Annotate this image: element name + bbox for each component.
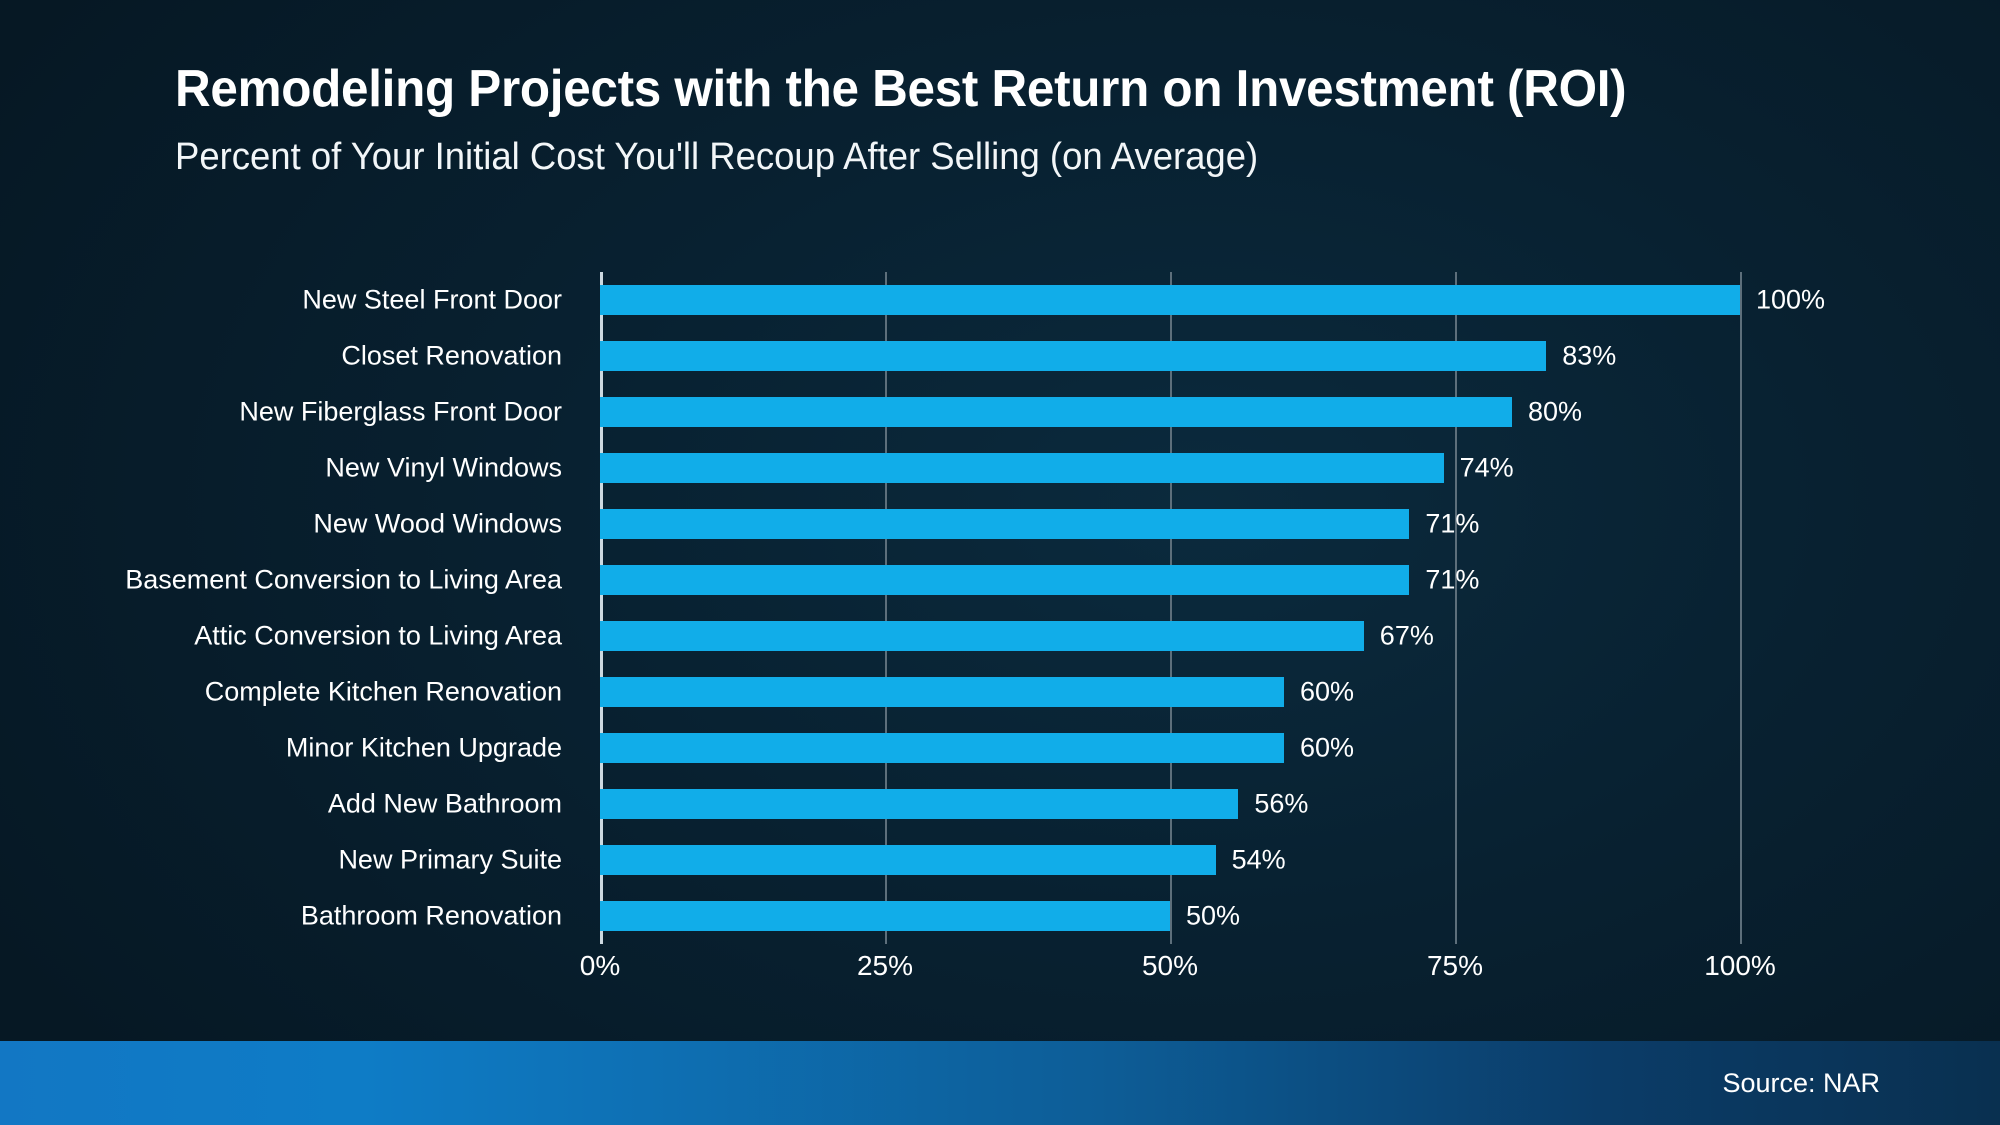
page-title: Remodeling Projects with the Best Return…	[175, 60, 1847, 118]
bar-value-label: 67%	[1380, 621, 1434, 652]
bar-value-label: 60%	[1300, 677, 1354, 708]
category-label: Complete Kitchen Renovation	[205, 677, 562, 708]
gridline	[1170, 272, 1172, 944]
page-subtitle: Percent of Your Initial Cost You'll Reco…	[175, 136, 1865, 180]
category-label: Minor Kitchen Upgrade	[286, 733, 562, 764]
value-axis-tick: 100%	[1704, 950, 1776, 982]
bar[interactable]	[600, 845, 1216, 875]
value-axis-line	[600, 272, 603, 944]
bar[interactable]	[600, 509, 1409, 539]
bar[interactable]	[600, 341, 1546, 371]
bar[interactable]	[600, 565, 1409, 595]
bar-value-label: 71%	[1425, 565, 1479, 596]
bar-value-label: 83%	[1562, 341, 1616, 372]
category-label: Add New Bathroom	[328, 789, 562, 820]
gridline	[885, 272, 887, 944]
category-label: New Vinyl Windows	[325, 453, 562, 484]
bar[interactable]	[600, 397, 1512, 427]
bar-value-label: 100%	[1756, 285, 1825, 316]
gridline	[1455, 272, 1457, 944]
category-label: Closet Renovation	[341, 341, 562, 372]
chart-header: Remodeling Projects with the Best Return…	[175, 60, 1935, 180]
category-axis-labels: New Steel Front DoorCloset RenovationNew…	[120, 272, 580, 944]
bar-value-label: 50%	[1186, 901, 1240, 932]
category-label: Basement Conversion to Living Area	[125, 565, 562, 596]
bar[interactable]	[600, 453, 1444, 483]
value-axis-tick: 75%	[1427, 950, 1483, 982]
bar[interactable]	[600, 733, 1284, 763]
bar[interactable]	[600, 789, 1238, 819]
gridline	[1740, 272, 1742, 944]
category-label: New Primary Suite	[338, 845, 562, 876]
bar-value-label: 56%	[1254, 789, 1308, 820]
category-label: New Steel Front Door	[302, 285, 562, 316]
bar[interactable]	[600, 901, 1170, 931]
source-attribution: Source: NAR	[1722, 1068, 1880, 1099]
value-axis-tick: 0%	[580, 950, 620, 982]
bar[interactable]	[600, 621, 1364, 651]
category-label: New Wood Windows	[313, 509, 562, 540]
bar-value-label: 74%	[1460, 453, 1514, 484]
bar-value-label: 54%	[1232, 845, 1286, 876]
value-axis-tick: 25%	[857, 950, 913, 982]
category-label: Bathroom Renovation	[301, 901, 562, 932]
value-axis-tick-labels: 0%25%50%75%100%	[600, 950, 1740, 1000]
chart-plot-wrapper: New Steel Front DoorCloset RenovationNew…	[0, 272, 2000, 972]
category-label: New Fiberglass Front Door	[239, 397, 562, 428]
value-axis-tick: 50%	[1142, 950, 1198, 982]
plot-area: 100%83%80%74%71%71%67%60%60%56%54%50%	[600, 272, 1740, 944]
bar-value-label: 60%	[1300, 733, 1354, 764]
category-label: Attic Conversion to Living Area	[194, 621, 562, 652]
bar[interactable]	[600, 285, 1740, 315]
footer-bar: Source: NAR	[0, 1041, 2000, 1125]
bar-value-label: 80%	[1528, 397, 1582, 428]
bar[interactable]	[600, 677, 1284, 707]
bar-value-label: 71%	[1425, 509, 1479, 540]
chart-slide: Remodeling Projects with the Best Return…	[0, 0, 2000, 1125]
